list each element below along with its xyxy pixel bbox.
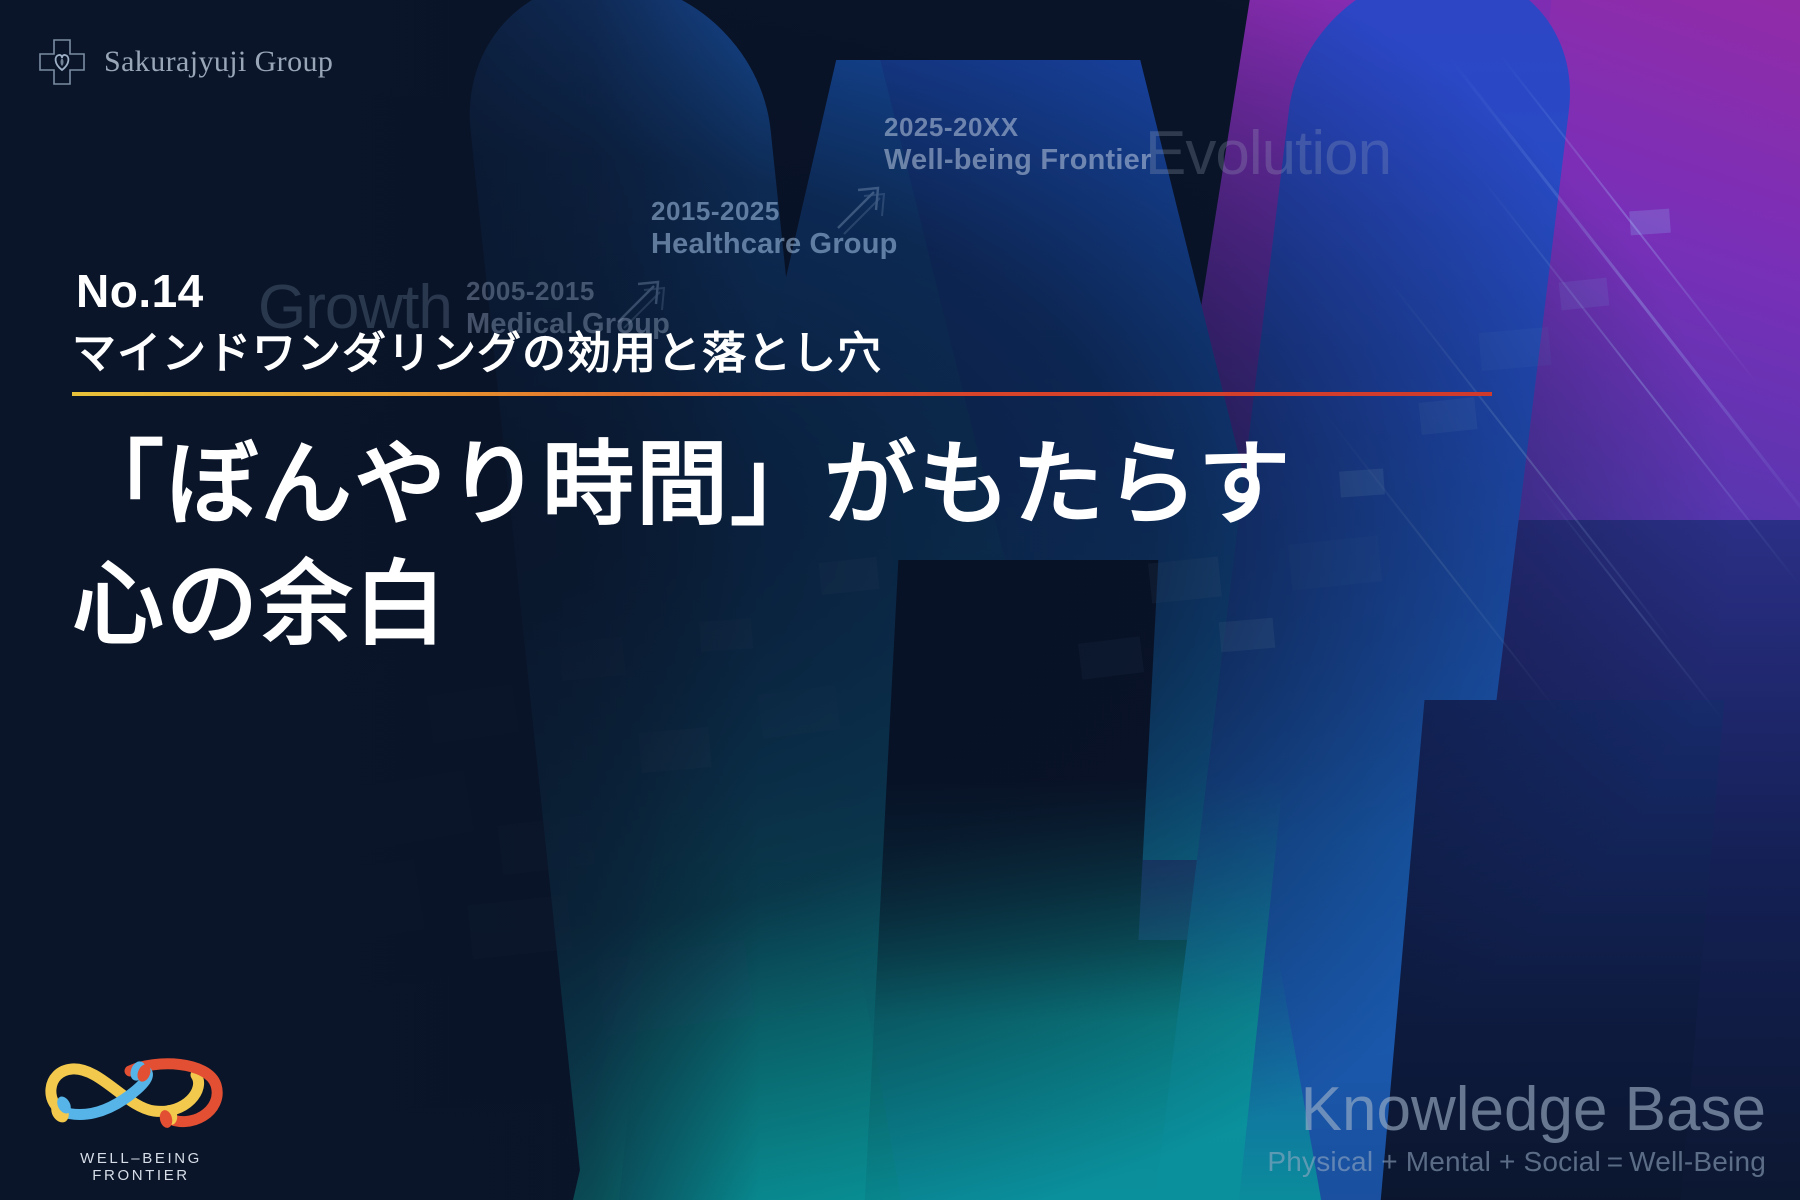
- sakurajyuji-cross-icon: [36, 36, 88, 88]
- wellbeing-frontier-logo: WELL–BEING FRONTIER: [30, 1055, 280, 1184]
- subtitle: マインドワンダリングの効用と落とし穴: [72, 330, 1502, 378]
- wellbeing-frontier-label: WELL–BEING FRONTIER: [30, 1150, 252, 1184]
- accent-divider: [72, 392, 1492, 396]
- infinity-ribbon-icon: [30, 1055, 252, 1141]
- page-title-line-2: 心の余白: [72, 546, 1502, 666]
- main-copy-block: No.14 マインドワンダリングの効用と落とし穴 「ぼんやり時間」がもたらす 心…: [72, 268, 1502, 666]
- knowledge-base-title: Knowledge Base: [1267, 1077, 1766, 1142]
- page-title: 「ぼんやり時間」がもたらす 心の余白: [72, 426, 1502, 665]
- knowledge-base-footer: Knowledge Base Physical + Mental + Socia…: [1267, 1077, 1766, 1178]
- timeline-arrow-icon: [828, 168, 898, 238]
- brand-name: Sakurajyuji Group: [104, 45, 333, 79]
- brand-header: Sakurajyuji Group: [36, 36, 333, 88]
- timeline-era-name: Well-being Frontier: [884, 143, 1152, 177]
- issue-number: No.14: [76, 268, 1502, 314]
- timeline-era-years: 2025-20XX: [884, 112, 1152, 143]
- page-title-line-1: 「ぼんやり時間」がもたらす: [72, 426, 1502, 546]
- timeline-era-wellbeing: 2025-20XX Well-being Frontier: [884, 112, 1152, 177]
- knowledge-base-tagline: Physical + Mental + Social = Well-Being: [1267, 1146, 1766, 1178]
- ghost-word-evolution: Evolution: [1145, 118, 1391, 189]
- slide-canvas: Growth Evolution 2005-2015 Medical Group…: [0, 0, 1800, 1200]
